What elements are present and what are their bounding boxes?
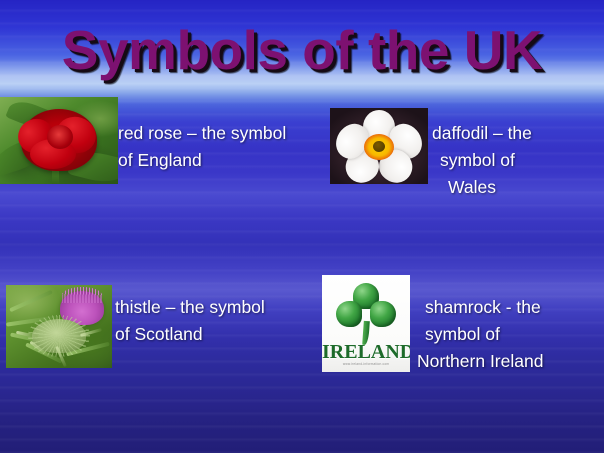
daffodil-stamen	[373, 141, 385, 152]
caption-daffodil: daffodil – the symbol of Wales	[432, 120, 532, 201]
caption-line: red rose – the symbol	[118, 120, 286, 147]
caption-line: of England	[118, 147, 286, 174]
shamrock-icon	[370, 301, 396, 327]
page-title: Symbols of the UK	[0, 18, 604, 82]
caption-thistle: thistle – the symbol of Scotland	[115, 294, 265, 348]
rose-center	[47, 125, 73, 149]
thistle-photo	[6, 285, 112, 368]
caption-line: of Scotland	[115, 321, 265, 348]
caption-shamrock: shamrock - the symbol of Northern Irelan…	[417, 294, 543, 375]
caption-line: daffodil – the	[432, 120, 532, 147]
caption-line: shamrock - the	[417, 294, 543, 321]
red-rose-photo	[0, 97, 118, 184]
shamrock-icon	[336, 301, 362, 327]
caption-line: symbol of	[417, 321, 543, 348]
logo-wordmark: IRELAND	[322, 341, 410, 364]
caption-line: Wales	[432, 174, 532, 201]
caption-line: symbol of	[432, 147, 532, 174]
caption-red-rose: red rose – the symbol of England	[118, 120, 286, 174]
presentation-slide: Symbols of the UK red rose – the symbol …	[0, 0, 604, 453]
shamrock-ireland-logo: IRELAND www.ireland-information.com	[322, 275, 410, 372]
caption-line: thistle – the symbol	[115, 294, 265, 321]
logo-url-text: www.ireland-information.com	[322, 362, 410, 366]
daffodil-photo	[330, 108, 428, 184]
caption-line: Northern Ireland	[417, 348, 543, 375]
